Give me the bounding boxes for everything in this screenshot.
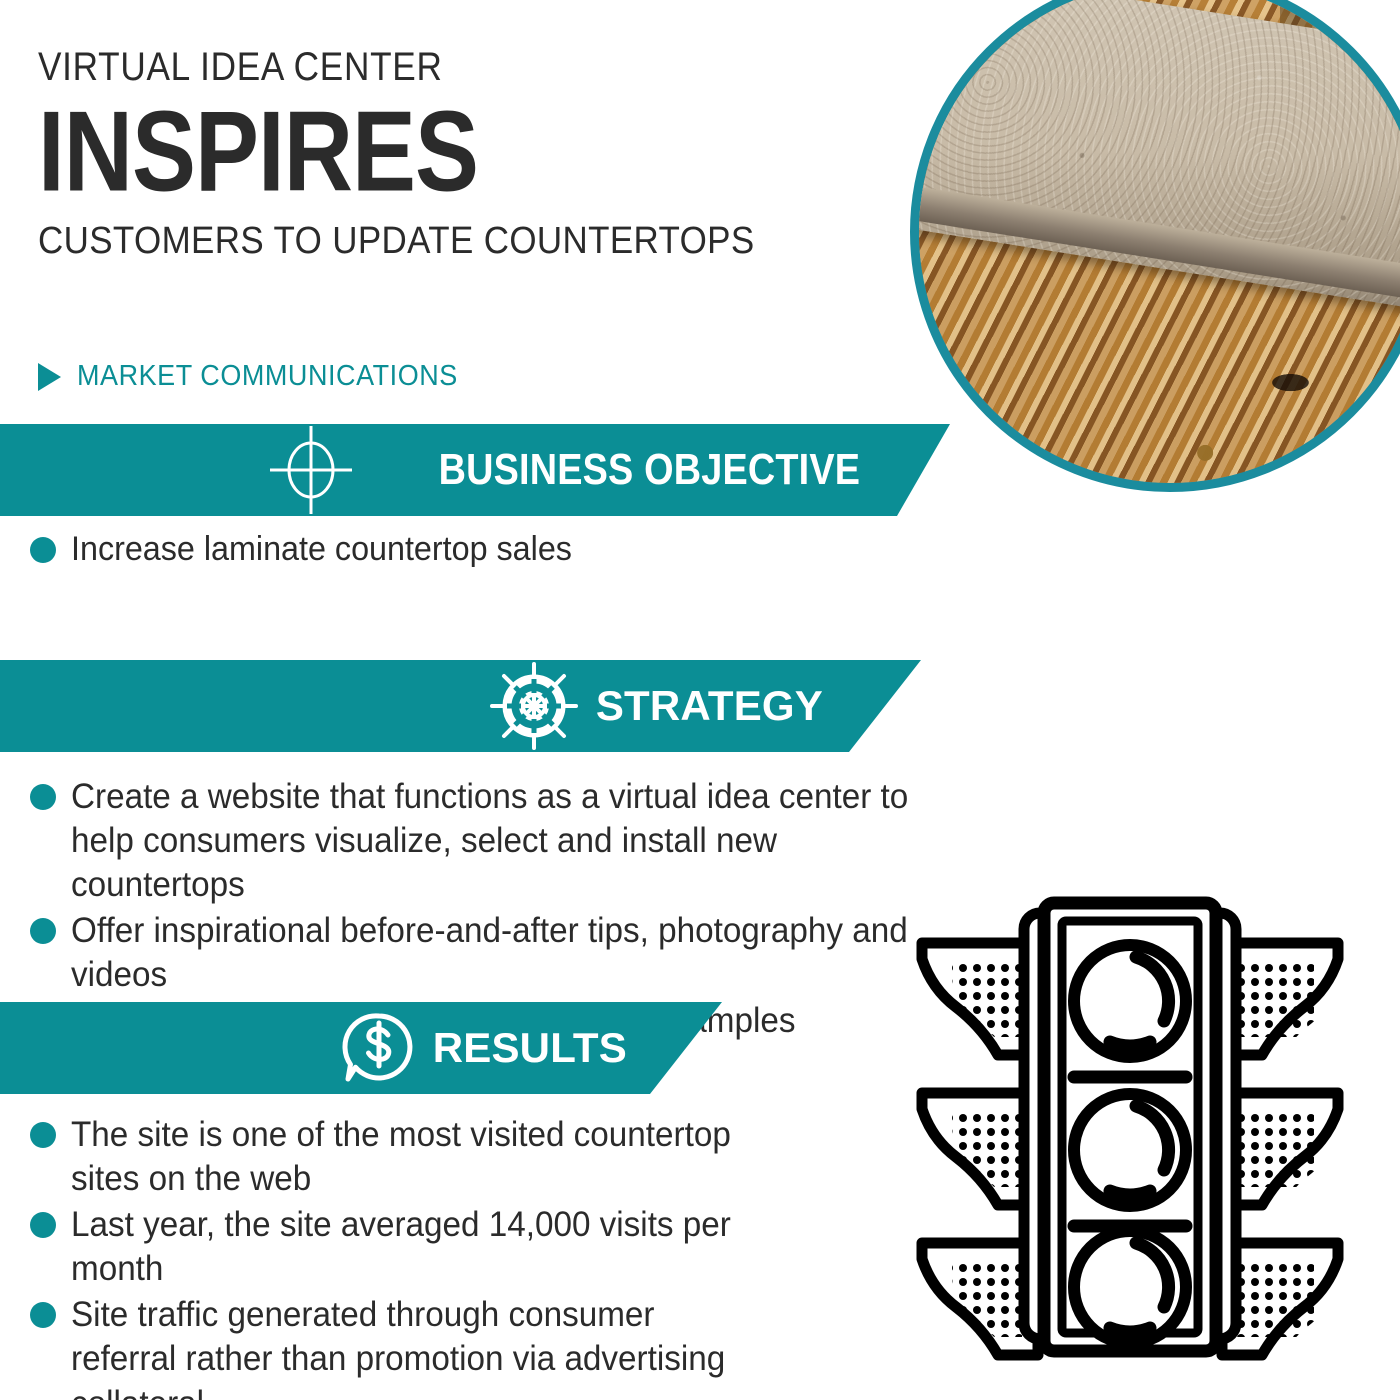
traffic-light-illustration (900, 885, 1360, 1375)
bullet-text: Site traffic generated through consumer … (71, 1293, 754, 1400)
dollar-speech-bubble-icon (341, 1009, 417, 1087)
list-item: Create a website that functions as a vir… (30, 775, 970, 907)
bullet-text: Last year, the site averaged 14,000 visi… (71, 1203, 754, 1291)
section-banner-results: RESULTS (0, 1002, 722, 1094)
banner-title-strategy: STRATEGY (596, 682, 823, 730)
infographic-page: VIRTUAL IDEA CENTER INSPIRES CUSTOMERS T… (0, 0, 1400, 1400)
section-banner-strategy: STRATEGY (0, 660, 921, 752)
bullet-list-results: The site is one of the most visited coun… (30, 1113, 790, 1400)
bullet-text: Create a website that functions as a vir… (71, 775, 925, 907)
traffic-light-lamps (1074, 945, 1186, 1343)
bullet-text: Increase laminate countertop sales (71, 528, 572, 571)
section-banner-business-objective: BUSINESS OBJECTIVE (0, 424, 950, 516)
eyebrow-title: VIRTUAL IDEA CENTER (38, 46, 742, 88)
header-block: VIRTUAL IDEA CENTER INSPIRES CUSTOMERS T… (38, 46, 838, 262)
list-item: The site is one of the most visited coun… (30, 1113, 790, 1201)
bullet-dot-icon (30, 1212, 56, 1238)
bullet-dot-icon (30, 918, 56, 944)
ships-wheel-icon (488, 660, 580, 752)
bullet-list-business-objective: Increase laminate countertop sales (30, 528, 930, 573)
bullet-dot-icon (30, 1302, 56, 1328)
banner-title-results: RESULTS (433, 1024, 627, 1072)
bullet-text: Offer inspirational before-and-after tip… (71, 909, 925, 997)
bullet-text: The site is one of the most visited coun… (71, 1113, 754, 1201)
page-headline: INSPIRES (38, 94, 790, 208)
list-item: Site traffic generated through consumer … (30, 1293, 790, 1400)
bullet-dot-icon (30, 784, 56, 810)
list-item: Offer inspirational before-and-after tip… (30, 909, 970, 997)
countertop-photo-texture (919, 0, 1400, 483)
bullet-dot-icon (30, 537, 56, 563)
list-item: Last year, the site averaged 14,000 visi… (30, 1203, 790, 1291)
list-item: Increase laminate countertop sales (30, 528, 930, 571)
play-triangle-icon (38, 363, 61, 391)
category-row: MARKET COMMUNICATIONS (38, 360, 486, 393)
category-label: MARKET COMMUNICATIONS (77, 360, 458, 393)
bullet-dot-icon (30, 1122, 56, 1148)
banner-title-business-objective: BUSINESS OBJECTIVE (438, 445, 860, 495)
page-subheadline: CUSTOMERS TO UPDATE COUNTERTOPS (38, 222, 774, 262)
crosshair-target-icon (268, 424, 354, 516)
countertop-photo (910, 0, 1400, 492)
